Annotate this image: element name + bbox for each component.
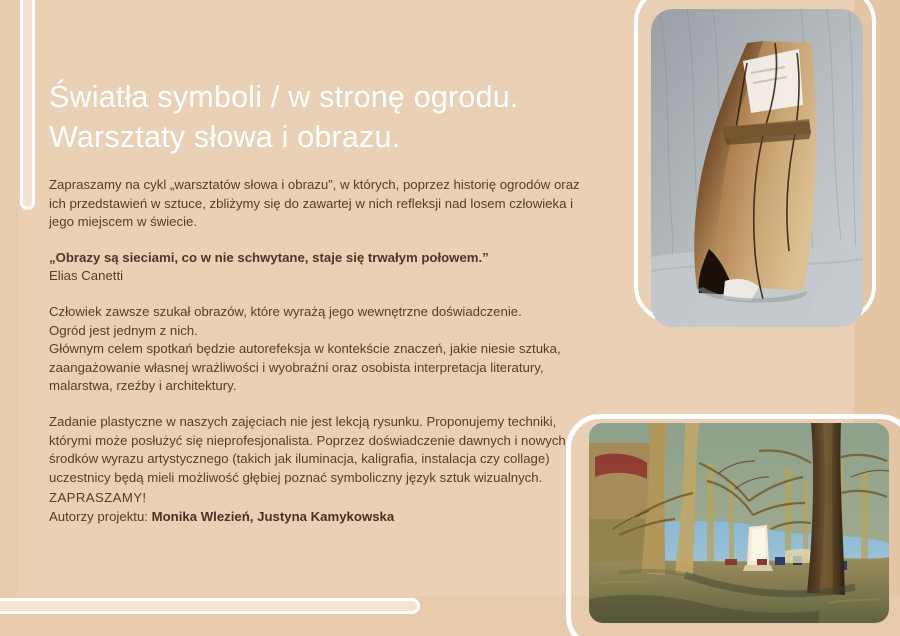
page-title: Światła symboli / w stronę ogrodu. Warsz… [49,77,594,157]
paragraph-goals: Człowiek zawsze szukał obrazów, które wy… [49,303,592,396]
closing-block: ZAPRASZAMY! Autorzy projektu: Monika Wle… [49,489,592,526]
poster-canvas: Światła symboli / w stronę ogrodu. Warsz… [0,0,900,636]
text-content: Światła symboli / w stronę ogrodu. Warsz… [49,0,594,636]
paragraph-intro: Zapraszamy na cykl „warsztatów słowa i o… [49,176,592,232]
authors-names: Monika Wlezień, Justyna Kamykowska [152,509,395,524]
quote-block: „Obrazy są sieciami, co w nie schwytane,… [49,249,592,286]
quote-author: Elias Canetti [49,267,592,286]
body-text: Zapraszamy na cykl „warsztatów słowa i o… [49,176,592,504]
quote-text: „Obrazy są sieciami, co w nie schwytane,… [49,249,592,268]
authors-line: Autorzy projektu: Monika Wlezień, Justyn… [49,508,592,527]
decor-vertical-capsule-left [20,0,35,210]
wooden-sculpture-photo [651,9,863,327]
authors-label: Autorzy projektu: [49,509,152,524]
invitation-text: ZAPRASZAMY! [49,489,592,508]
paragraph-methods: Zadanie plastyczne w naszych zajęciach n… [49,413,592,487]
park-painting-photo [589,423,889,623]
